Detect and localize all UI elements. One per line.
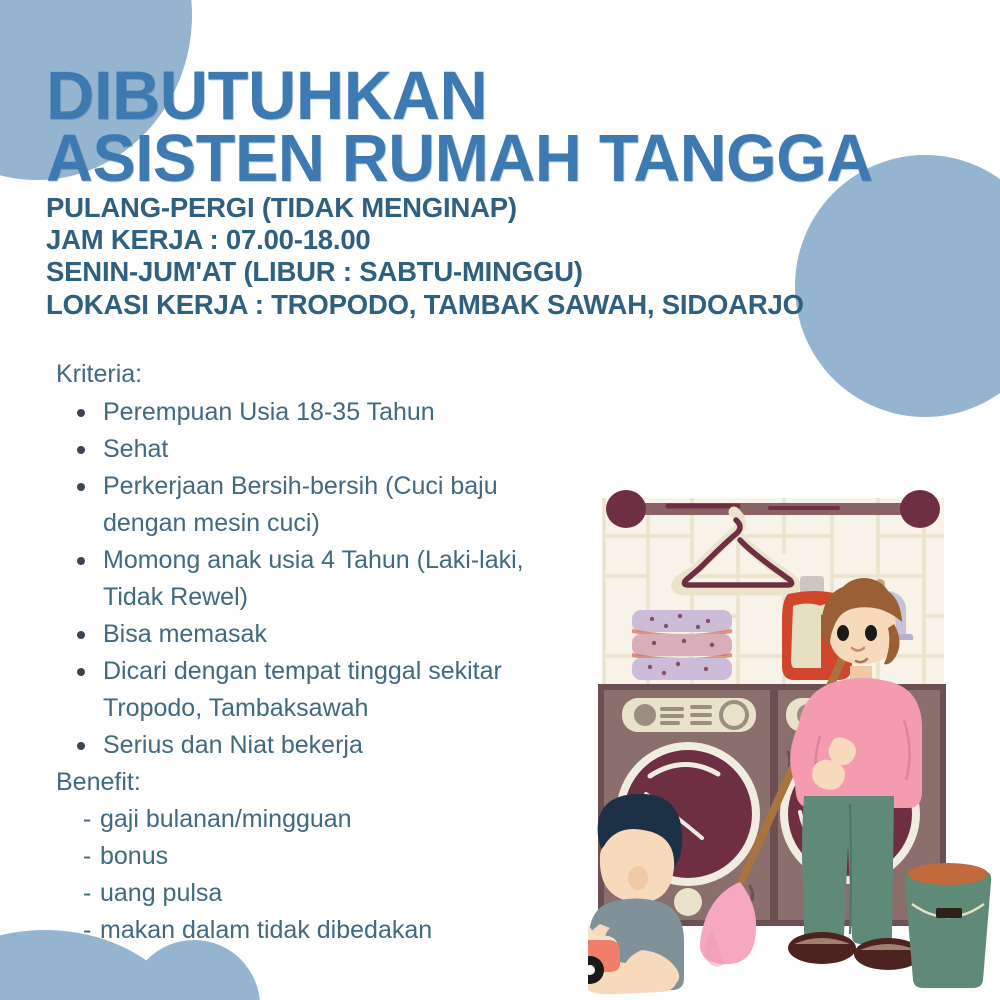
criteria-item-label: Bisa memasak (103, 620, 267, 648)
folded-towels (632, 610, 732, 680)
benefit-label: Benefit: (56, 764, 576, 801)
bullet-icon (77, 409, 85, 417)
benefit-item-label: gaji bulanan/mingguan (100, 801, 352, 838)
criteria-item-label: Serius dan Niat bekerja (103, 731, 363, 759)
job-fact-location: LOKASI KERJA : TROPODO, TAMBAK SAWAH, SI… (46, 289, 976, 321)
criteria-item-label: Sehat (103, 435, 168, 463)
benefit-list: -gaji bulanan/mingguan-bonus-uang pulsa-… (56, 801, 576, 949)
cleaning-bucket (905, 863, 991, 988)
job-fact-hours: JAM KERJA : 07.00-18.00 (46, 224, 976, 256)
requirements-block: Kriteria: Perempuan Usia 18-35 TahunSeha… (56, 356, 576, 949)
laundry-room-illustration (588, 484, 1000, 1000)
bullet-icon (77, 483, 85, 491)
job-facts-block: PULANG-PERGI (TIDAK MENGINAP) JAM KERJA … (46, 192, 976, 321)
criteria-item: Perempuan Usia 18-35 Tahun (56, 394, 576, 431)
bullet-icon (77, 742, 85, 750)
criteria-list: Perempuan Usia 18-35 TahunSehatPerkerjaa… (56, 394, 576, 764)
decorative-circle-bottom-left-small (128, 940, 260, 1000)
benefit-item: -gaji bulanan/mingguan (56, 801, 576, 838)
benefit-dash: - (83, 801, 91, 838)
criteria-item-label: Momong anak usia 4 Tahun (Laki-laki, Tid… (103, 546, 524, 611)
benefit-item-label: uang pulsa (100, 875, 222, 912)
bullet-icon (77, 668, 85, 676)
benefit-item: -bonus (56, 838, 576, 875)
criteria-label: Kriteria: (56, 356, 576, 393)
bullet-icon (77, 631, 85, 639)
benefit-item-label: makan dalam tidak dibedakan (100, 912, 432, 949)
poster-headline: DIBUTUHKAN ASISTEN RUMAH TANGGA (46, 64, 958, 190)
headline-line-1: DIBUTUHKAN (46, 64, 958, 128)
benefit-dash: - (83, 875, 91, 912)
criteria-item: Dicari dengan tempat tinggal sekitar Tro… (56, 653, 576, 727)
criteria-item: Bisa memasak (56, 616, 576, 653)
criteria-item: Perkerjaan Bersih-bersih (Cuci baju deng… (56, 468, 576, 542)
benefit-dash: - (83, 838, 91, 875)
poster-canvas: DIBUTUHKAN ASISTEN RUMAH TANGGA PULANG-P… (0, 0, 1000, 1000)
benefit-item: -makan dalam tidak dibedakan (56, 912, 576, 949)
criteria-item: Serius dan Niat bekerja (56, 727, 576, 764)
job-fact-days: SENIN-JUM'AT (LIBUR : SABTU-MINGGU) (46, 256, 976, 288)
criteria-item-label: Perkerjaan Bersih-bersih (Cuci baju deng… (103, 472, 498, 537)
benefit-dash: - (83, 912, 91, 949)
benefit-item: -uang pulsa (56, 875, 576, 912)
criteria-item: Momong anak usia 4 Tahun (Laki-laki, Tid… (56, 542, 576, 616)
bullet-icon (77, 446, 85, 454)
job-fact-commute: PULANG-PERGI (TIDAK MENGINAP) (46, 192, 976, 224)
benefit-item-label: bonus (100, 838, 168, 875)
criteria-item-label: Dicari dengan tempat tinggal sekitar Tro… (103, 657, 502, 722)
headline-line-2: ASISTEN RUMAH TANGGA (46, 128, 958, 190)
bullet-icon (77, 557, 85, 565)
criteria-item: Sehat (56, 431, 576, 468)
criteria-item-label: Perempuan Usia 18-35 Tahun (103, 398, 435, 426)
